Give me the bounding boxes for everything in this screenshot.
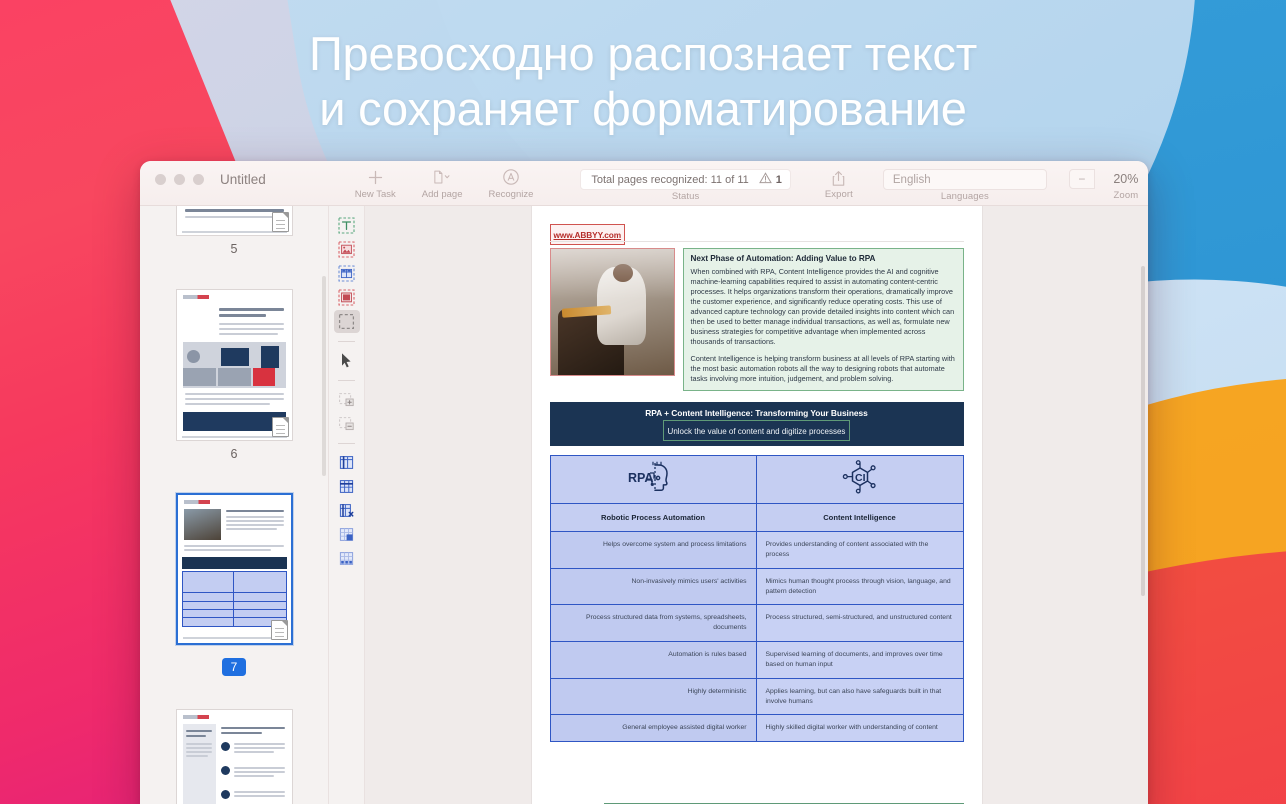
toolbar-export-group: Export <box>815 161 863 200</box>
add-page-label: Add page <box>422 189 463 200</box>
document-url: www.ABBYY.com <box>554 230 622 240</box>
document-viewer[interactable]: www.ABBYY.com Next Phase of Automation <box>365 206 1148 804</box>
header-rule <box>550 241 964 242</box>
window-body: 5 <box>140 206 1148 804</box>
language-value: English <box>893 174 931 186</box>
table-cell-left: Non-invasively mimics users' activities <box>551 569 757 605</box>
table-cell-left: General employee assisted digital worker <box>551 715 757 741</box>
text-area-tool[interactable] <box>334 214 360 237</box>
document-banner: RPA + Content Intelligence: Transforming… <box>550 402 964 446</box>
table-row[interactable]: Non-invasively mimics users' activities … <box>551 569 963 606</box>
recognition-area-tool[interactable] <box>334 310 360 333</box>
image-area-tool[interactable] <box>334 238 360 261</box>
page-thumbnails-pane[interactable]: 5 <box>140 206 329 804</box>
thumbnail-page-6[interactable]: 6 <box>158 289 310 461</box>
table-row[interactable]: General employee assisted digital worker… <box>551 715 963 741</box>
pointer-tool[interactable] <box>334 349 360 372</box>
table-cell-left: Automation is rules based <box>551 642 757 678</box>
ci-icon: CI <box>833 459 887 501</box>
remove-area-part-tool[interactable] <box>334 412 360 435</box>
table-row[interactable]: Highly deterministic Applies learning, b… <box>551 679 963 716</box>
rpa-icon: RPA <box>624 460 682 500</box>
table-row-headers: Robotic Process Automation Content Intel… <box>551 504 963 532</box>
status-text: Total pages recognized: 11 of 11 <box>591 174 748 186</box>
table-row[interactable]: Process structured data from systems, sp… <box>551 605 963 642</box>
status-warning-count: 1 <box>776 174 782 186</box>
window-controls[interactable] <box>140 161 204 185</box>
table-cell-right: Applies learning, but can also have safe… <box>757 679 963 715</box>
thumbnail-number: 6 <box>158 448 310 461</box>
table-row[interactable]: Helps overcome system and process limita… <box>551 532 963 569</box>
toolbar-actions-group: New Task Add page <box>342 161 547 200</box>
svg-text:RPA: RPA <box>628 471 653 485</box>
tool-separator <box>338 443 355 444</box>
language-select[interactable]: English <box>883 169 1047 190</box>
split-table-cells-tool[interactable] <box>334 547 360 570</box>
ocr-text-region[interactable]: Next Phase of Automation: Adding Value t… <box>683 248 964 391</box>
table-row-icons: RPA <box>551 456 963 504</box>
table-cell-left: Helps overcome system and process limita… <box>551 532 757 568</box>
tool-separator <box>338 380 355 381</box>
page-plus-icon <box>431 167 453 187</box>
thumbnail-number-active: 7 <box>222 658 247 676</box>
zoom-control: − 20% + <box>1069 169 1148 189</box>
page-thumbnails-scroll[interactable]: 5 <box>140 206 328 804</box>
tool-separator <box>338 341 355 342</box>
merge-table-cells-tool[interactable] <box>334 523 360 546</box>
recognize-icon <box>500 167 522 187</box>
page-recognized-badge <box>271 620 288 640</box>
area-tools-palette <box>329 206 365 804</box>
headline-line-1: Превосходно распознает текст <box>0 26 1286 81</box>
thumbnail-card[interactable] <box>176 206 293 236</box>
background-image-area-tool[interactable] <box>334 286 360 309</box>
marketing-headline: Превосходно распознает текст и сохраняет… <box>0 26 1286 137</box>
comparison-table[interactable]: RPA <box>550 455 964 742</box>
page-recognized-badge <box>272 417 289 437</box>
close-button[interactable] <box>155 174 166 185</box>
add-area-part-tool[interactable] <box>334 388 360 411</box>
add-horizontal-separator-tool[interactable] <box>334 475 360 498</box>
ci-icon-cell: CI <box>757 456 963 503</box>
thumbnail-page-8[interactable]: 8 <box>158 709 310 804</box>
share-icon <box>828 168 850 188</box>
table-header-left: Robotic Process Automation <box>551 504 757 531</box>
status-group-label: Status <box>672 191 700 202</box>
window-title: Untitled <box>204 161 266 187</box>
table-cell-right: Process structured, semi-structured, and… <box>757 605 963 641</box>
thumbnail-card-selected[interactable] <box>176 493 293 645</box>
export-button[interactable] <box>815 161 863 188</box>
recognize-button[interactable]: Recognize <box>475 161 546 200</box>
export-group-label: Export <box>825 189 853 200</box>
maximize-button[interactable] <box>193 174 204 185</box>
thumbnails-scrollbar[interactable] <box>322 276 326 476</box>
window-toolbar: Untitled New Task <box>140 161 1148 206</box>
photo-highlight <box>551 249 674 299</box>
plus-icon <box>364 167 386 187</box>
table-cell-left: Highly deterministic <box>551 679 757 715</box>
new-task-button[interactable]: New Task <box>342 161 409 200</box>
table-header-right: Content Intelligence <box>757 504 963 531</box>
delete-separators-tool[interactable] <box>334 499 360 522</box>
svg-text:CI: CI <box>855 472 866 484</box>
thumbnail-card[interactable] <box>176 289 293 441</box>
thumbnail-page-7[interactable]: 7 <box>158 493 310 676</box>
table-cell-right: Supervised learning of documents, and im… <box>757 642 963 678</box>
document-scrollbar[interactable] <box>1141 266 1145 596</box>
toolbar-zoom-group: − 20% + Zoom <box>1069 161 1148 201</box>
add-page-button[interactable]: Add page <box>409 161 476 200</box>
thumbnail-page-5[interactable]: 5 <box>158 206 310 256</box>
headline-line-2: и сохраняет форматирование <box>0 81 1286 136</box>
table-cell-right: Highly skilled digital worker with under… <box>757 715 963 741</box>
new-task-label: New Task <box>355 189 396 200</box>
zoom-value: 20% <box>1097 172 1148 186</box>
hero-heading: Next Phase of Automation: Adding Value t… <box>691 254 956 263</box>
languages-group-label: Languages <box>941 191 989 202</box>
hero-row: Next Phase of Automation: Adding Value t… <box>550 248 964 391</box>
table-row[interactable]: Automation is rules based Supervised lea… <box>551 642 963 679</box>
hero-paragraph-2: Content Intelligence is helping transfor… <box>691 354 956 384</box>
screenshot-stage: Превосходно распознает текст и сохраняет… <box>0 0 1286 804</box>
rpa-icon-cell: RPA <box>551 456 757 503</box>
banner-subtitle: Unlock the value of content and digitize… <box>668 427 846 436</box>
warning-triangle-icon <box>759 171 772 189</box>
table-cell-right: Mimics human thought process through vis… <box>757 569 963 605</box>
ocr-image-region[interactable] <box>550 248 675 376</box>
add-vertical-separator-tool[interactable] <box>334 451 360 474</box>
minimize-button[interactable] <box>174 174 185 185</box>
document-page[interactable]: www.ABBYY.com Next Phase of Automation <box>532 206 982 804</box>
recognize-label: Recognize <box>488 189 533 200</box>
page-recognized-badge <box>272 212 289 232</box>
thumbnail-card[interactable] <box>176 709 293 804</box>
status-warning[interactable]: 1 <box>759 171 782 189</box>
thumbnail-number: 5 <box>158 243 310 256</box>
zoom-group-label: Zoom <box>1114 190 1139 201</box>
toolbar-languages-group: English Languages <box>883 161 1047 202</box>
app-window: Untitled New Task <box>140 161 1148 804</box>
status-pill[interactable]: Total pages recognized: 11 of 11 1 <box>580 169 791 190</box>
ocr-banner-subtitle-region[interactable]: Unlock the value of content and digitize… <box>663 420 851 441</box>
table-area-tool[interactable] <box>334 262 360 285</box>
table-cell-left: Process structured data from systems, sp… <box>551 605 757 641</box>
hero-paragraph-1: When combined with RPA, Content Intellig… <box>691 267 956 348</box>
banner-title: RPA + Content Intelligence: Transforming… <box>645 408 867 418</box>
zoom-out-button[interactable]: − <box>1069 169 1095 189</box>
table-cell-right: Provides understanding of content associ… <box>757 532 963 568</box>
toolbar-status-group: Total pages recognized: 11 of 11 1 Statu… <box>580 161 791 202</box>
